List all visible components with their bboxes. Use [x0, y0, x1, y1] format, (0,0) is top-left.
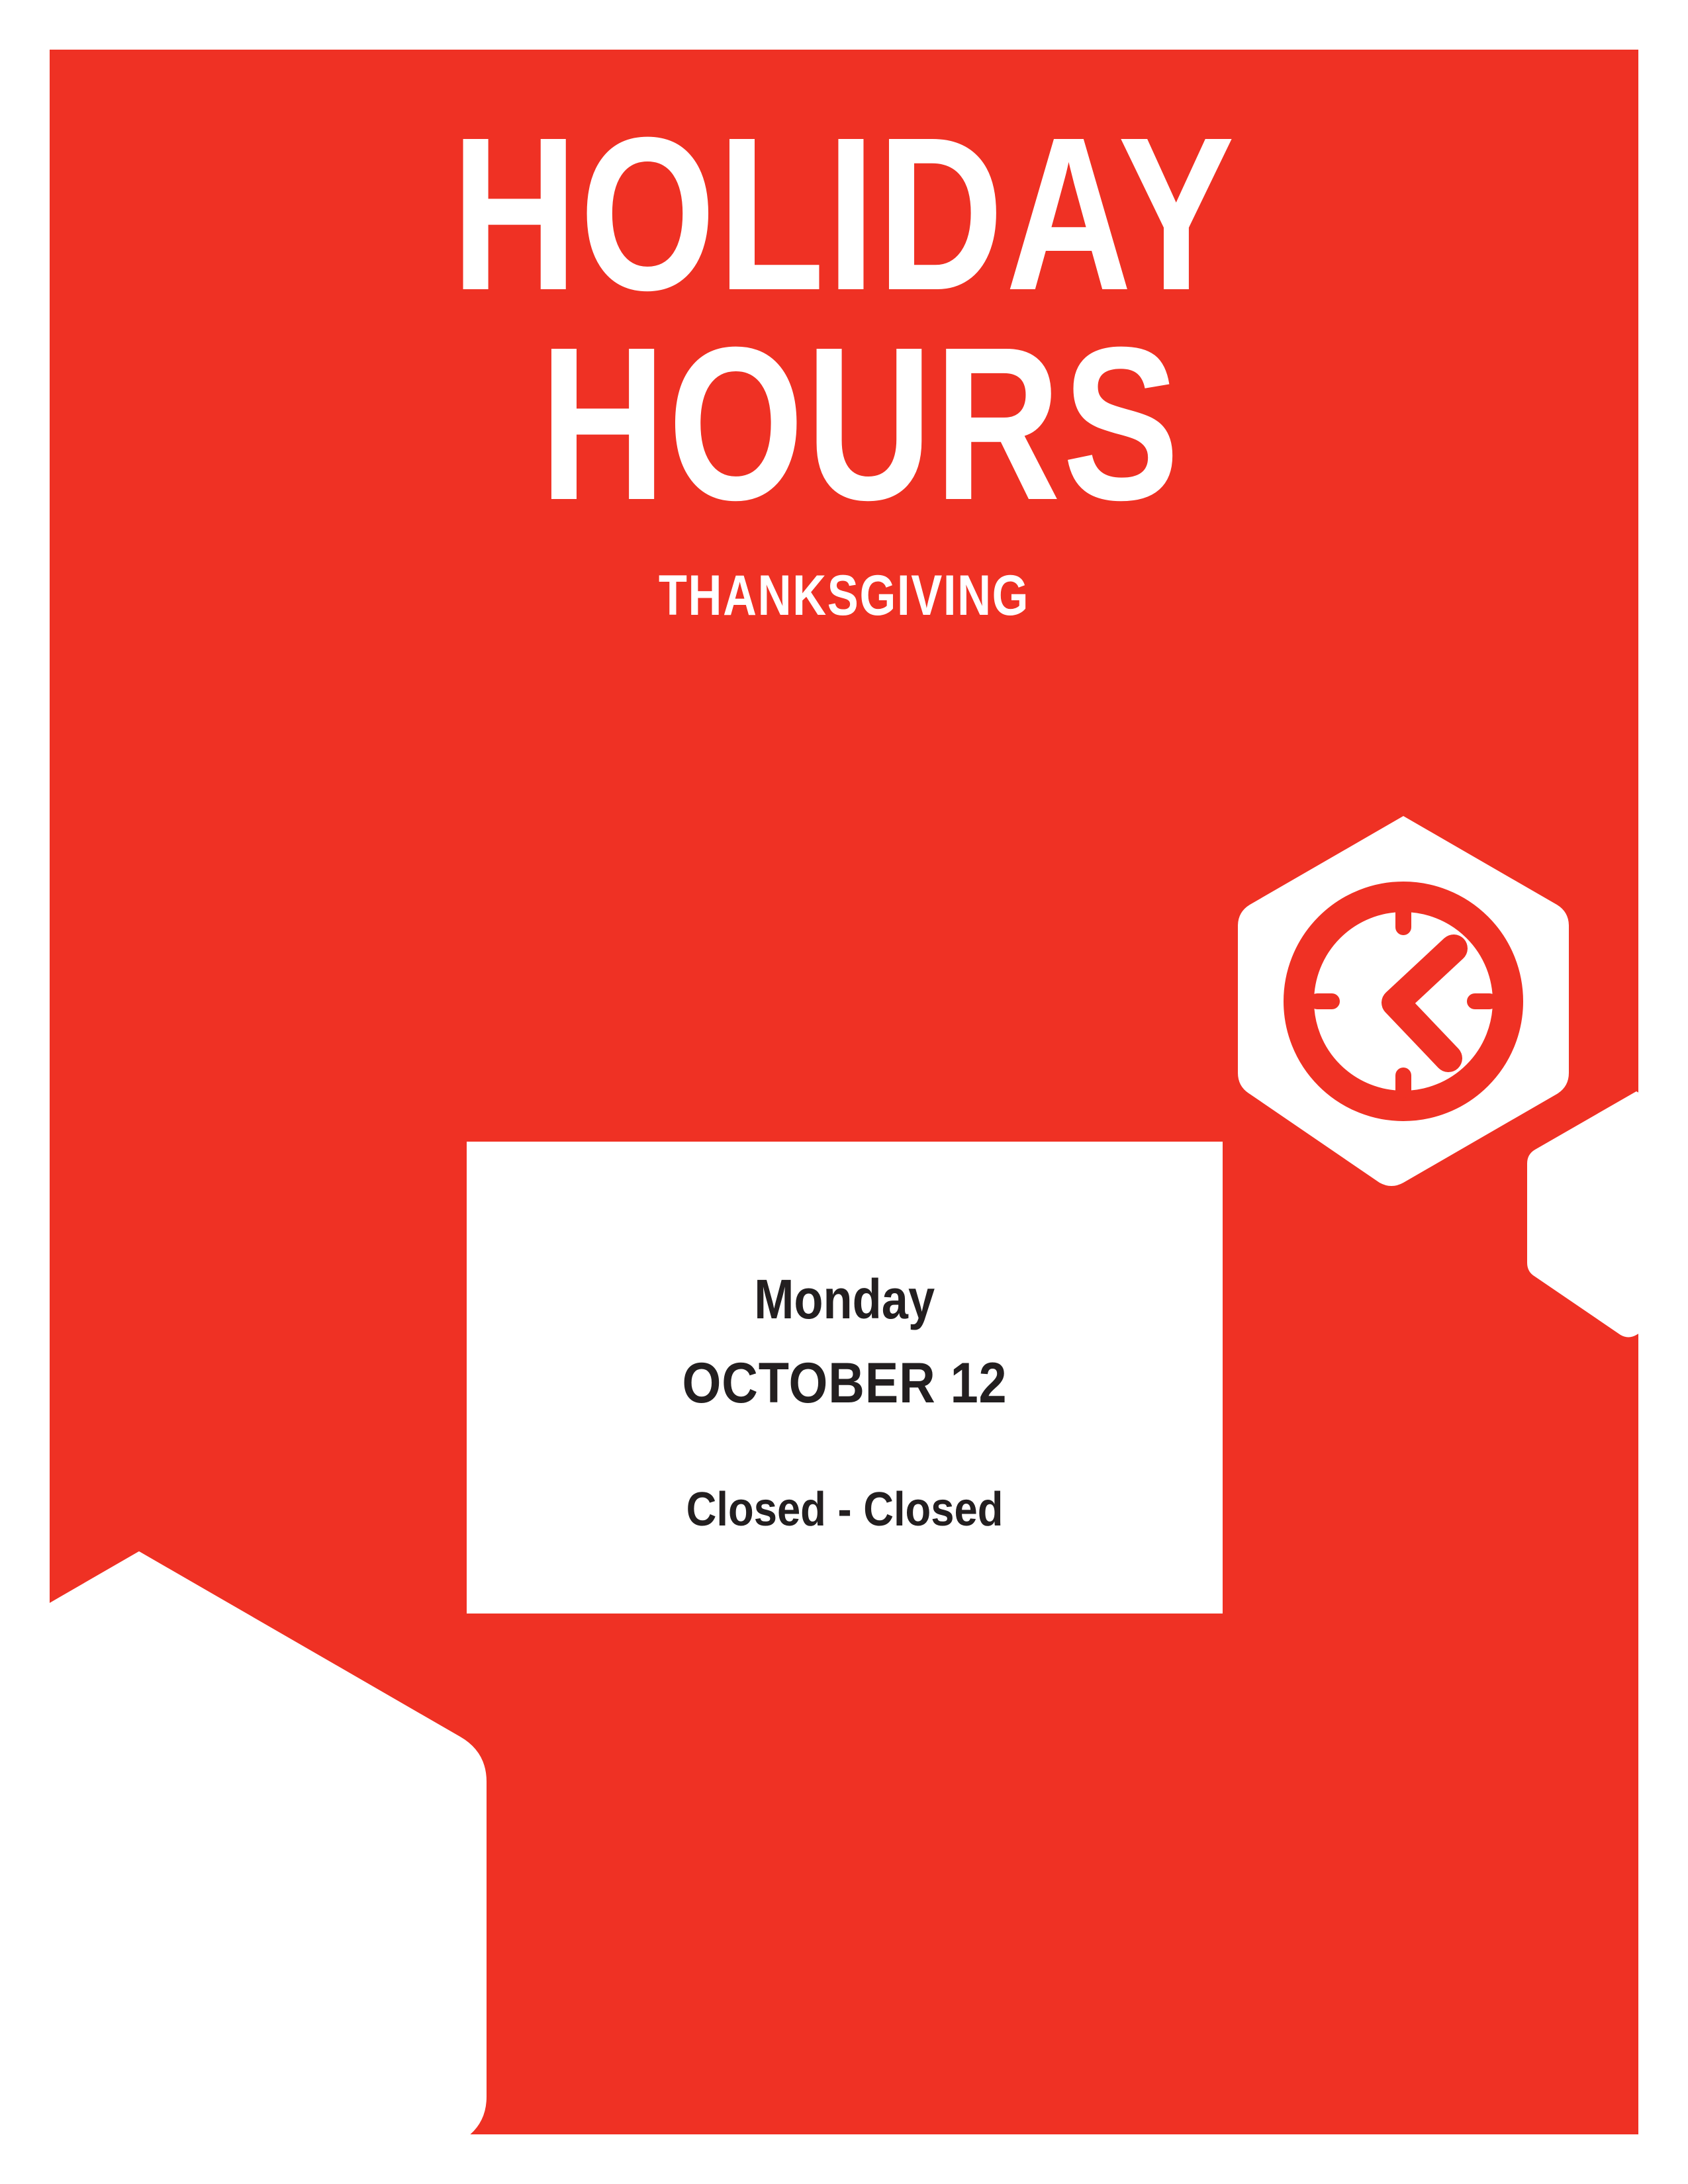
hexagon-shape — [1527, 1091, 1638, 1338]
headline-block: HOLIDAY HOURS THANKSGIVING — [50, 109, 1638, 624]
poster-canvas: HOLIDAY HOURS THANKSGIVING — [0, 0, 1688, 2184]
red-background-panel: HOLIDAY HOURS THANKSGIVING — [50, 50, 1638, 2134]
hexagon-badge-icon — [1238, 811, 1569, 1188]
card-date: OCTOBER 12 — [682, 1355, 1007, 1412]
clock-icon — [1299, 897, 1508, 1106]
holiday-hours-card: Monday OCTOBER 12 Closed - Closed — [467, 1142, 1223, 1614]
hexagon-shape — [50, 1551, 487, 2134]
hexagon-large-icon — [50, 1542, 487, 2134]
page-title-line-1: HOLIDAY — [209, 109, 1479, 319]
page-title-line-2: HOURS — [238, 319, 1483, 529]
hexagon-small-icon — [1527, 1087, 1638, 1339]
card-weekday: Monday — [755, 1271, 935, 1327]
card-hours-range: Closed - Closed — [686, 1486, 1004, 1533]
page-subtitle: THANKSGIVING — [193, 567, 1495, 624]
